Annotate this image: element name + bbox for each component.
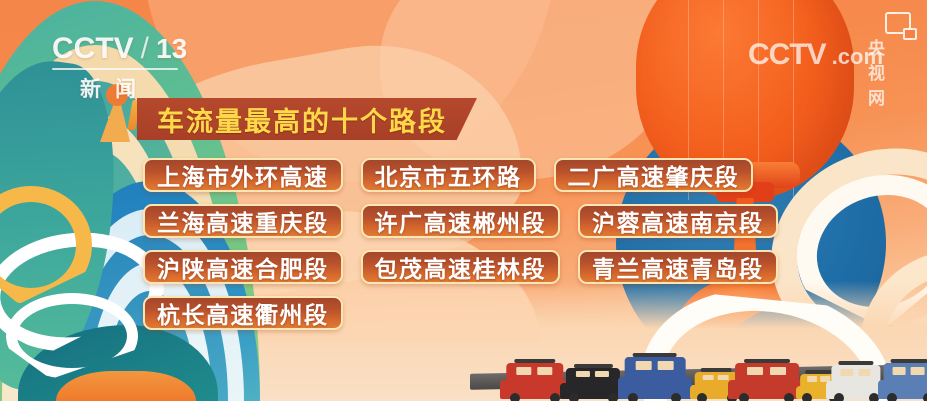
car-wheel [671, 393, 681, 401]
road-section-label: 杭长高速衢州段 [157, 296, 329, 330]
road-section-tag[interactable]: 二广高速肇庆段 [554, 158, 754, 192]
car-window [657, 361, 673, 370]
car-roof-rack [891, 359, 927, 363]
car-wheel [802, 393, 812, 401]
traffic-illustration [0, 349, 927, 401]
car-black-suv [560, 383, 626, 400]
road-section-label: 包茂高速桂林段 [375, 250, 547, 284]
car-wheel [628, 393, 638, 401]
car-cabin [566, 368, 620, 383]
car-wheel [550, 393, 560, 401]
cctv-logo-slash: / [141, 32, 149, 66]
car-wheel [887, 393, 897, 401]
car-window [840, 369, 853, 376]
car-wheel [923, 393, 927, 401]
car-window [718, 375, 729, 381]
road-section-label: 兰海高速重庆段 [157, 204, 329, 238]
cloud-shape-b [380, 0, 680, 180]
car-roof-rack [744, 359, 790, 363]
road-section-tag[interactable]: 兰海高速重庆段 [143, 204, 343, 238]
car-window [911, 367, 924, 374]
car-window [858, 369, 871, 376]
car-window [770, 367, 787, 374]
car-window [576, 371, 590, 378]
yellow-cloud-curl [0, 186, 92, 304]
car-cabin [884, 363, 927, 380]
car-cabin [735, 363, 799, 380]
road-section-tag[interactable]: 北京市五环路 [361, 158, 536, 192]
road-section-tag[interactable]: 青兰高速青岛段 [578, 250, 778, 284]
car-roof-rack [701, 368, 732, 372]
car-roof-rack [805, 370, 832, 374]
car-roof-rack [574, 364, 613, 368]
car-wheel [569, 393, 579, 401]
road-section-label: 二广高速肇庆段 [568, 158, 740, 192]
car-window [636, 361, 652, 370]
car-blue-van [618, 377, 692, 399]
section-title-banner: 车流量最高的十个路段 [137, 98, 477, 140]
cctv-dot-com-watermark: CCTV .com 央视网 [748, 38, 883, 72]
watermark-cn-text: 央视网 [868, 34, 887, 109]
road-section-label: 沪陕高速合肥段 [157, 250, 329, 284]
car-window [702, 375, 713, 381]
car-wheel [784, 393, 794, 401]
car-roof-rack [633, 353, 677, 357]
car-window [595, 371, 609, 378]
car-roof-rack [514, 359, 555, 363]
car-cabin [625, 357, 686, 377]
road-section-tag[interactable]: 沪陕高速合肥段 [143, 250, 343, 284]
car-wheel [697, 393, 707, 401]
car-blue-suv [878, 380, 927, 399]
road-section-label: 上海市外环高速 [157, 158, 329, 192]
car-white-van [826, 381, 886, 399]
teal-blob-left [0, 51, 132, 399]
car-cabin [831, 365, 880, 381]
cctv-logo-text: CCTV [52, 32, 134, 66]
car-red-suv-2 [728, 380, 806, 399]
picture-in-picture-icon[interactable] [885, 12, 911, 34]
car-wheel [510, 393, 520, 401]
road-section-label: 青兰高速青岛段 [592, 250, 764, 284]
road-section-label: 许广高速郴州段 [375, 204, 547, 238]
cctv-channel-number: 13 [156, 33, 187, 65]
road-section-tag[interactable]: 包茂高速桂林段 [361, 250, 561, 284]
car-window [537, 367, 552, 374]
car-wheel [739, 393, 749, 401]
car-window [517, 367, 532, 374]
road-section-list: 上海市外环高速北京市五环路二广高速肇庆段兰海高速重庆段许广高速郴州段沪蓉高速南京… [143, 158, 803, 330]
road-section-tag[interactable]: 沪蓉高速南京段 [578, 204, 778, 238]
broadcast-frame: CCTV / 13 新闻 CCTV .com 央视网 车流量最高的十个路段 上海… [0, 0, 927, 401]
road-section-tag[interactable]: 许广高速郴州段 [361, 204, 561, 238]
page-title: 车流量最高的十个路段 [157, 100, 447, 139]
road-section-tag[interactable]: 杭长高速衢州段 [143, 296, 343, 330]
car-window [747, 367, 764, 374]
car-wheel [834, 393, 844, 401]
car-wheel [608, 393, 618, 401]
road-section-tag[interactable]: 上海市外环高速 [143, 158, 343, 192]
cctv13-logo: CCTV / 13 新闻 [52, 32, 187, 103]
cctv-logo-underline [52, 68, 178, 70]
watermark-cctv-text: CCTV [748, 38, 826, 72]
car-cabin [506, 363, 563, 380]
car-window [893, 367, 906, 374]
car-window [807, 376, 817, 381]
road-section-label: 北京市五环路 [375, 158, 522, 192]
car-roof-rack [838, 361, 873, 365]
road-section-label: 沪蓉高速南京段 [592, 204, 764, 238]
